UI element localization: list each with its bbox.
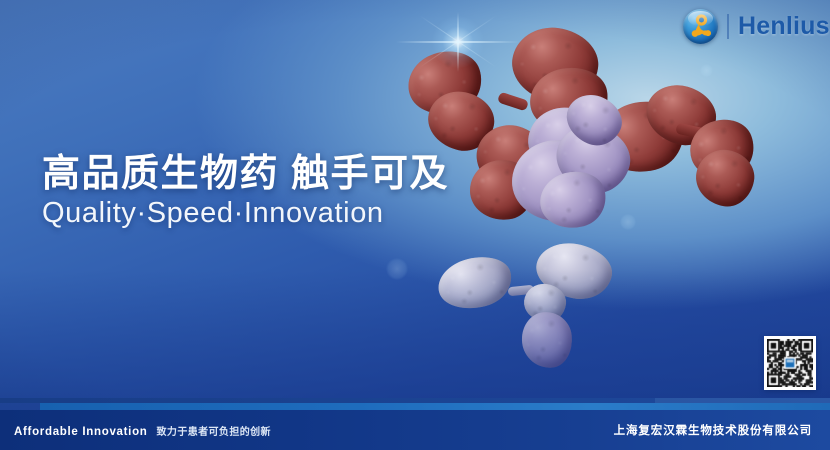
logo-wordmark: Henlius	[738, 12, 830, 41]
bokeh-particle	[620, 214, 636, 230]
footer-company-name: 上海复宏汉霖生物技术股份有限公司	[614, 422, 812, 438]
headline-english: Quality·Speed·Innovation	[42, 198, 384, 228]
headline-chinese: 高品质生物药 触手可及	[42, 155, 449, 195]
qr-code-canvas	[767, 339, 813, 387]
footer-bar: Affordable Innovation 致力于患者可负担的创新 上海复宏汉霖…	[0, 410, 830, 450]
logo-divider	[727, 14, 729, 39]
henlius-brand-banner: 高品质生物药 触手可及 Quality·Speed·Innovation Hen…	[0, 0, 830, 450]
bokeh-particle	[700, 64, 713, 77]
footer-tagline-chinese: 致力于患者可负担的创新	[157, 423, 271, 438]
footer-tagline-english: Affordable Innovation	[14, 426, 148, 438]
bokeh-particle	[386, 258, 408, 280]
footer-tagline-group: Affordable Innovation 致力于患者可负担的创新	[14, 423, 271, 438]
henlius-emblem-icon	[683, 9, 718, 44]
qr-code[interactable]	[764, 336, 816, 390]
accent-bar	[40, 403, 830, 410]
henlius-logo[interactable]: Henlius	[683, 9, 830, 44]
